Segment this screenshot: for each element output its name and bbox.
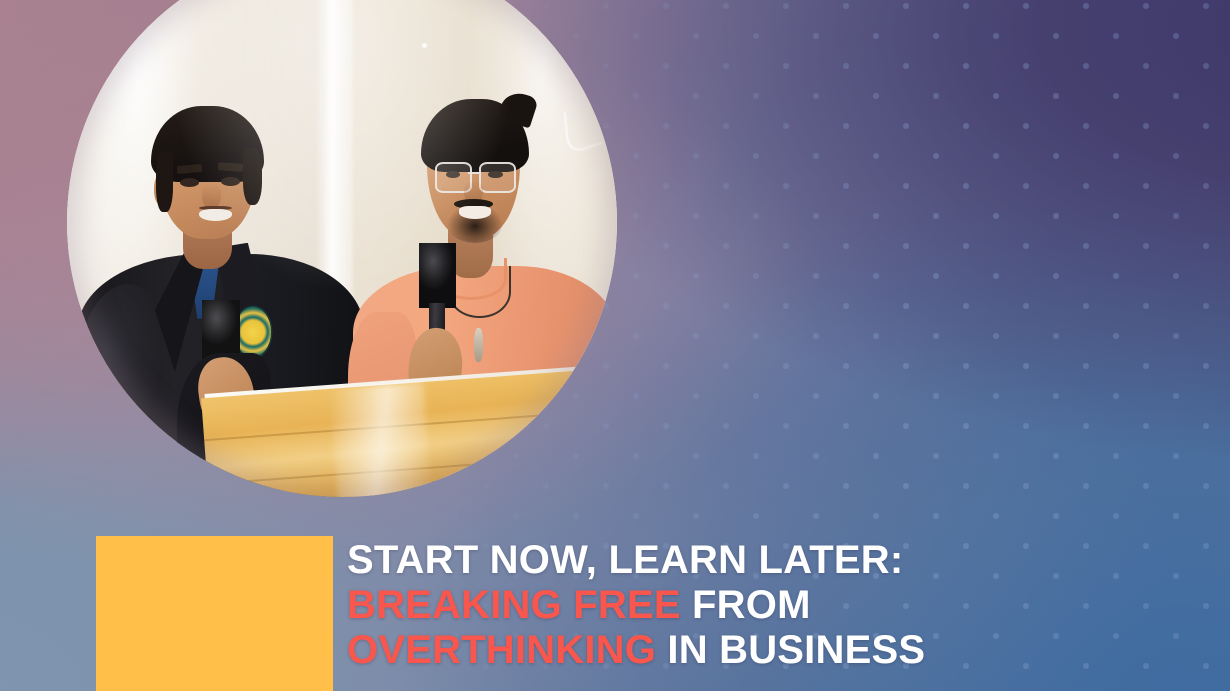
person-right-glasses-bridge [468,172,479,174]
person-right-necklace [448,266,510,318]
photo-scene [67,0,617,497]
person-right-glasses-lens-right [479,162,516,193]
guest-photo-circle [67,0,617,497]
title-line-3-rest: IN BUSINESS [656,628,925,672]
title-line-3-highlight: OVERTHINKING [347,628,656,672]
title-line-2-highlight: BREAKING FREE [347,583,681,627]
person-left-eye-right [221,177,240,186]
title-card-slide: START NOW, LEARN LATER: BREAKING FREE FR… [0,0,1230,691]
episode-title: START NOW, LEARN LATER: BREAKING FREE FR… [347,538,1107,673]
title-line-2: BREAKING FREE FROM [347,583,1107,628]
title-line-2-rest: FROM [681,583,811,627]
table-light-reflection [329,382,432,497]
person-left-sideburn-left [156,152,173,213]
person-right-necklace-pendant [474,328,483,363]
title-line-3: OVERTHINKING IN BUSINESS [347,628,1107,673]
person-left-nose [202,184,221,209]
wall-speck [422,43,427,48]
person-left-microphone-head [202,300,241,361]
person-right-mouth [459,206,491,218]
person-right-microphone-head [419,243,456,308]
title-line-1: START NOW, LEARN LATER: [347,538,1107,583]
person-left-sideburn-right [243,148,262,205]
yellow-accent-block [96,536,333,691]
